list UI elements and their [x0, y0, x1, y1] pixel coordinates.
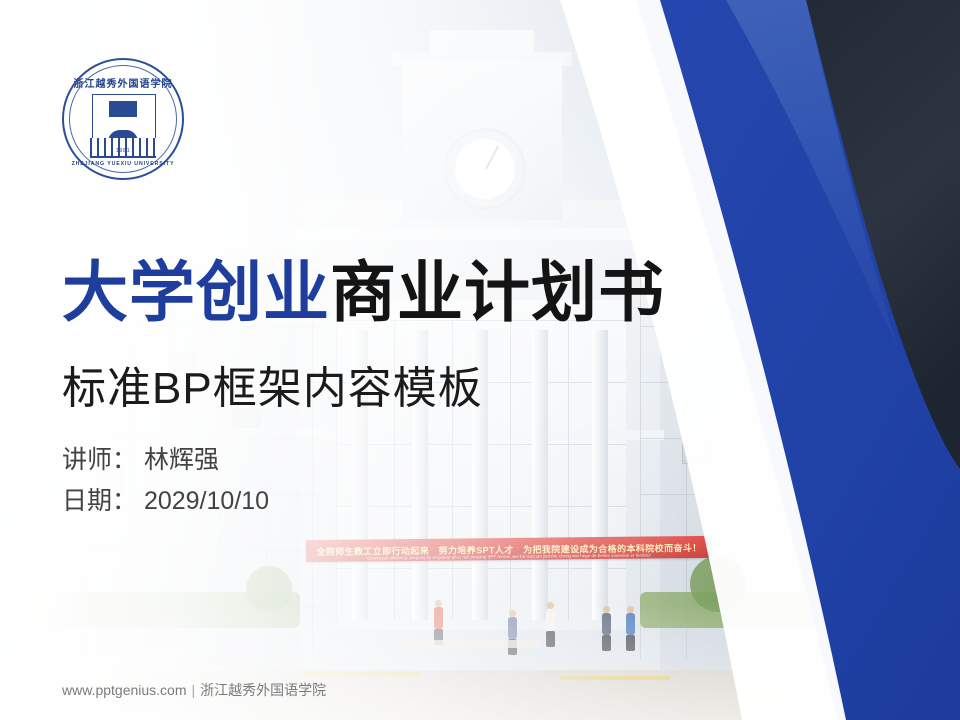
presentation-meta: 讲师： 林辉强 日期： 2029/10/10	[62, 440, 269, 521]
lecturer-line: 讲师： 林辉强	[62, 440, 269, 481]
date-line: 日期： 2029/10/10	[62, 481, 269, 522]
page-title: 大学创业商业计划书	[62, 258, 665, 328]
footer-school-name: 浙江越秀外国语学院	[200, 682, 326, 698]
page-title-highlight: 大学创业	[62, 255, 330, 329]
page-title-rest: 商业计划书	[330, 255, 665, 329]
footer: www.pptgenius.com|浙江越秀外国语学院	[62, 680, 326, 700]
footer-separator: |	[192, 682, 196, 698]
university-logo: 浙江越秀外国语学院 1981 ZHEJIANG YUEXIU UNIVERSIT…	[62, 58, 184, 180]
presentation-title-slide: 全院师生教工立即行动起来 努力培养SPT人才 为把我院建设成为合格的本科院校而奋…	[0, 0, 960, 720]
page-subtitle: 标准BP框架内容模板	[62, 352, 483, 416]
logo-english-name: ZHEJIANG YUEXIU UNIVERSITY	[62, 161, 184, 167]
logo-founding-year: 1981	[62, 148, 184, 154]
logo-chinese-name: 浙江越秀外国语学院	[62, 75, 184, 90]
footer-site-url[interactable]: www.pptgenius.com	[62, 682, 187, 698]
